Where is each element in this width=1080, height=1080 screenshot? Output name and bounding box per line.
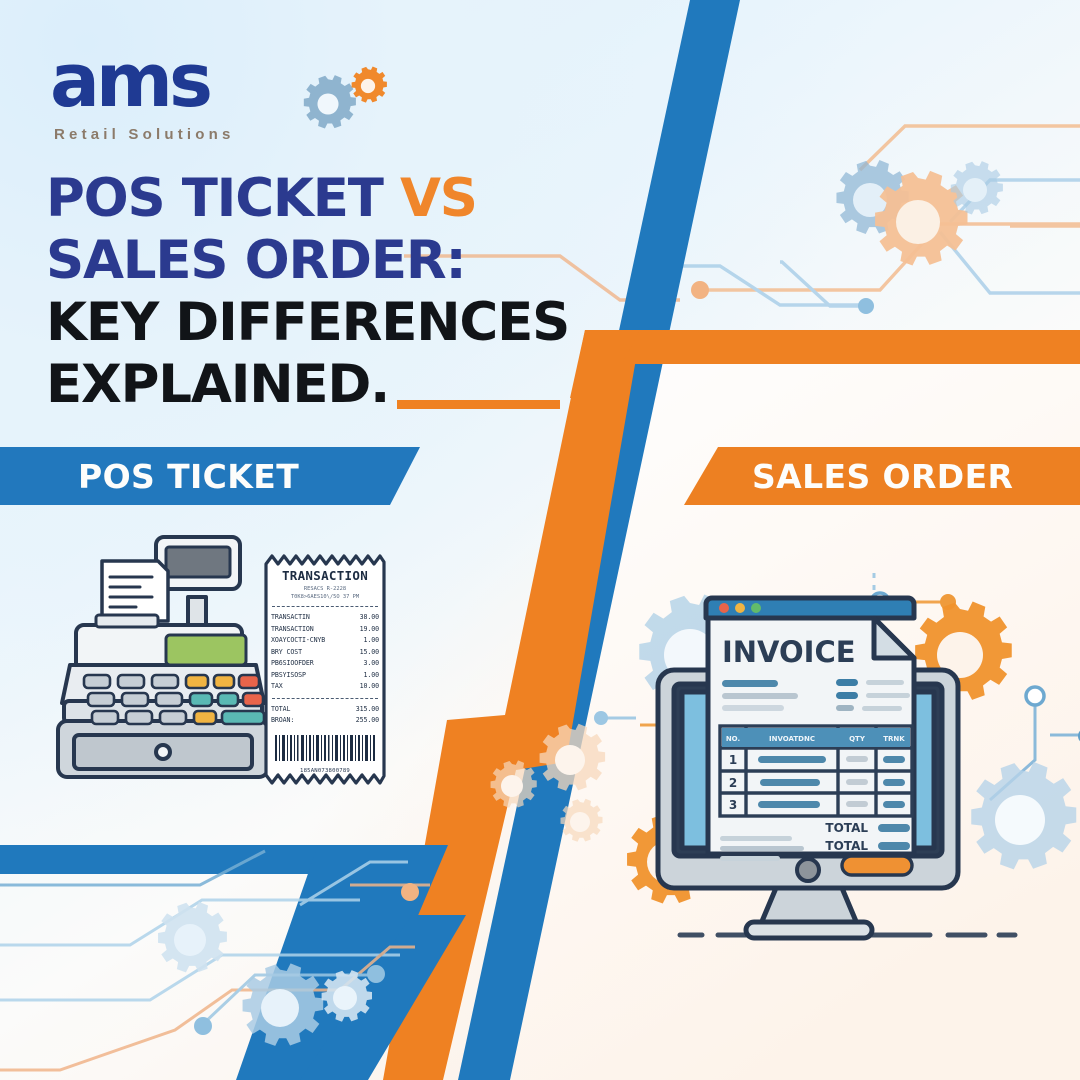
receipt-divider-top bbox=[272, 606, 378, 607]
receipt-item-label: XOAYCOCTI-CNYB bbox=[271, 635, 325, 647]
invoice-total-label-2: TOTAL bbox=[825, 839, 868, 853]
receipt-total-row-label: BROAN: bbox=[271, 715, 294, 727]
receipt-total-row: BROAN:255.00 bbox=[271, 715, 379, 727]
sales-order-banner-label: SALES ORDER bbox=[752, 457, 1013, 496]
receipt-item-label: TAX bbox=[271, 681, 283, 693]
receipt-item-amount: 19.00 bbox=[360, 624, 379, 636]
receipt-total-row-label: TOTAL bbox=[271, 704, 290, 716]
headline-line-4: EXPLAINED. bbox=[46, 354, 666, 416]
page-title: POS TICKET VS SALES ORDER: KEY DIFFERENC… bbox=[46, 168, 666, 416]
receipt-item: TAX10.00 bbox=[271, 681, 379, 693]
receipt-item: BRY COST15.00 bbox=[271, 647, 379, 659]
receipt-item-amount: 15.00 bbox=[360, 647, 379, 659]
receipt-item: PB6SIOOFDER3.00 bbox=[271, 658, 379, 670]
poster-canvas: ams Retail Solutions POS TICKET VS SALES… bbox=[0, 0, 1080, 1080]
headline-line-2: SALES ORDER: bbox=[46, 230, 666, 292]
receipt-item-label: TRANSACTIN bbox=[271, 612, 310, 624]
invoice-row-num-1: 1 bbox=[729, 753, 737, 767]
receipt-item-label: PB6SIOOFDER bbox=[271, 658, 314, 670]
receipt-item-label: TRANSACTION bbox=[271, 624, 314, 636]
invoice-monitor-illustration: INVOICE NO. INVOATDNC QTY bbox=[630, 570, 1060, 960]
logo-tagline: Retail Solutions bbox=[54, 126, 235, 143]
receipt-totals: TOTAL315.00BROAN:255.00 bbox=[271, 704, 379, 727]
headline-vs-accent: VS bbox=[400, 168, 477, 229]
receipt-item: XOAYCOCTI-CNYB1.00 bbox=[271, 635, 379, 647]
invoice-col-0: NO. bbox=[726, 735, 740, 743]
headline-line-3: KEY DIFFERENCES bbox=[46, 292, 666, 354]
receipt-content: TRANSACTION RESACS R-2228 T0K8>6AES10\/5… bbox=[271, 568, 379, 774]
pos-ticket-banner-label: POS TICKET bbox=[78, 457, 299, 496]
barcode-icon bbox=[271, 735, 379, 761]
logo-wordmark: ams bbox=[50, 44, 209, 118]
receipt-item: PBSYISOSP1.00 bbox=[271, 670, 379, 682]
receipt-subline-2: T0K8>6AES10\/5O 37 PM bbox=[271, 594, 379, 600]
receipt-item-amount: 38.00 bbox=[360, 612, 379, 624]
receipt-item-amount: 10.00 bbox=[360, 681, 379, 693]
logo-gear-icon bbox=[298, 64, 390, 136]
invoice-col-2: QTY bbox=[849, 735, 866, 743]
headline-line-1: POS TICKET VS bbox=[46, 168, 666, 230]
invoice-title-text: INVOICE bbox=[722, 635, 856, 669]
pos-ticket-banner: POS TICKET bbox=[0, 447, 420, 505]
invoice-row-num-2: 2 bbox=[729, 776, 737, 790]
receipt-line-items: TRANSACTIN38.00TRANSACTION19.00XOAYCOCTI… bbox=[271, 612, 379, 693]
receipt-total-row-amount: 255.00 bbox=[356, 715, 379, 727]
barcode-number: 185AN073800789 bbox=[271, 768, 379, 774]
receipt-subline-1: RESACS R-2228 bbox=[271, 586, 379, 592]
receipt-item-amount: 1.00 bbox=[364, 670, 379, 682]
headline-line-1-main: POS TICKET bbox=[46, 168, 400, 229]
receipt-title: TRANSACTION bbox=[271, 568, 379, 583]
receipt-divider-bottom bbox=[272, 698, 378, 699]
receipt-item-amount: 1.00 bbox=[364, 635, 379, 647]
invoice-total-label-1: TOTAL bbox=[825, 821, 868, 835]
receipt-paper: TRANSACTION RESACS R-2228 T0K8>6AES10\/5… bbox=[263, 552, 387, 787]
brand-logo: ams Retail Solutions bbox=[46, 30, 346, 140]
invoice-col-1: INVOATDNC bbox=[769, 735, 815, 743]
receipt-item-amount: 3.00 bbox=[364, 658, 379, 670]
receipt-item-label: PBSYISOSP bbox=[271, 670, 306, 682]
invoice-row-num-3: 3 bbox=[729, 798, 737, 812]
receipt-total-row: TOTAL315.00 bbox=[271, 704, 379, 716]
headline-underline-rule bbox=[397, 400, 560, 409]
receipt-item: TRANSACTIN38.00 bbox=[271, 612, 379, 624]
receipt-item: TRANSACTION19.00 bbox=[271, 624, 379, 636]
invoice-col-3: TRNK bbox=[883, 735, 905, 743]
sales-order-banner: SALES ORDER bbox=[684, 447, 1080, 505]
receipt-total-row-amount: 315.00 bbox=[356, 704, 379, 716]
receipt-item-label: BRY COST bbox=[271, 647, 302, 659]
